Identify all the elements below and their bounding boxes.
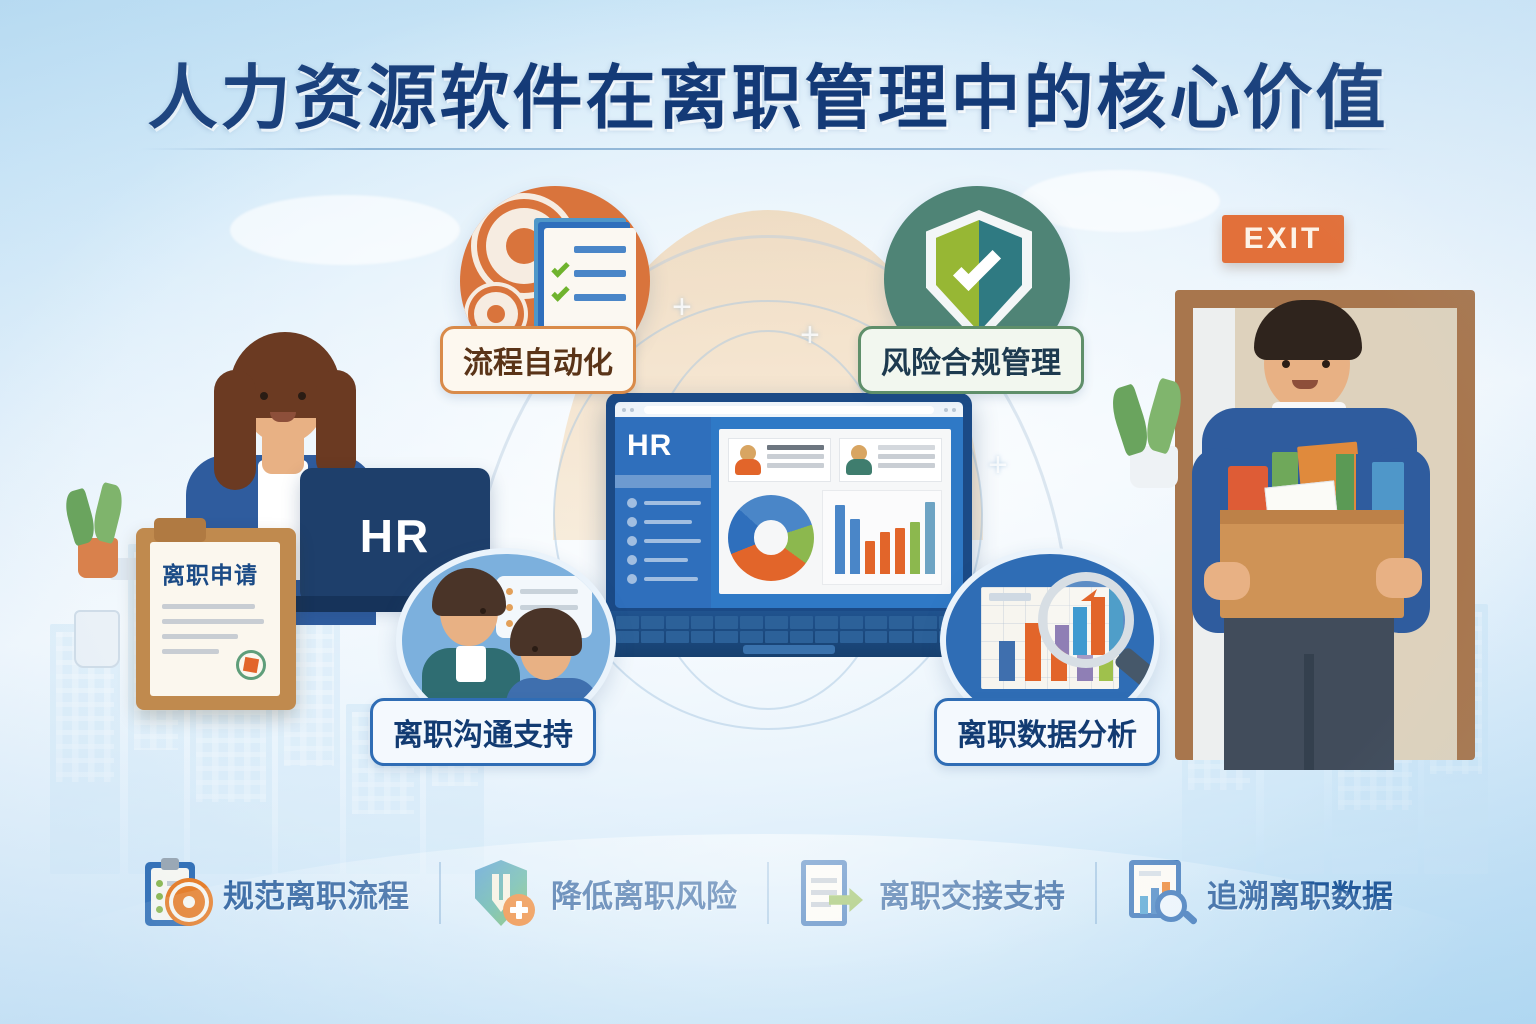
profile-card[interactable] (839, 438, 942, 482)
plant-decoration (1110, 370, 1196, 488)
chart-row (728, 490, 942, 585)
cup-decoration (74, 610, 120, 668)
sidebar-item[interactable] (627, 574, 701, 584)
avatar (735, 445, 761, 475)
browser-toolbar (615, 402, 963, 417)
feature-label-exit-data-analysis[interactable]: 离职数据分析 (934, 698, 1160, 766)
window-dot (944, 408, 948, 412)
check-icon (551, 259, 569, 277)
page-title: 人力资源软件在离职管理中的核心价值 (0, 42, 1536, 143)
sidebar-item[interactable] (627, 498, 701, 508)
plant-decoration (62, 478, 132, 578)
clipboard-doc-title: 离职申请 (162, 556, 268, 590)
clipboard-exit-application: 离职申请 (136, 528, 296, 710)
bullet-icon (627, 536, 637, 546)
profile-card-row (728, 438, 942, 482)
title-divider (140, 148, 1396, 150)
feature-label-process-automation[interactable]: 流程自动化 (440, 326, 636, 394)
infographic-poster: 人力资源软件在离职管理中的核心价值 + + + HR (0, 0, 1536, 1024)
bar-chart (822, 490, 942, 585)
sidebar-divider (615, 475, 711, 488)
poster-title-container: 人力资源软件在离职管理中的核心价值 (0, 42, 1536, 143)
feature-label-risk-compliance[interactable]: 风险合规管理 (858, 326, 1084, 394)
window-dot (622, 408, 626, 412)
address-bar[interactable] (644, 406, 934, 414)
departing-employee-man-with-box (1168, 298, 1468, 768)
laptop-lid: HR (606, 393, 972, 617)
hr-dashboard-laptop: HR (600, 393, 978, 663)
window-dot (630, 408, 634, 412)
bullet-icon (627, 498, 637, 508)
laptop-screen: HR (615, 402, 963, 608)
cloud-decoration (230, 195, 460, 265)
bullet-icon (627, 574, 637, 584)
profile-card[interactable] (728, 438, 831, 482)
hr-laptop-lid-label: HR (360, 509, 430, 563)
hr-brand-label: HR (627, 429, 701, 463)
plus-decoration: + (672, 288, 692, 327)
sidebar-item[interactable] (627, 555, 701, 565)
plus-decoration: + (988, 446, 1008, 485)
exit-sign: EXIT (1222, 215, 1344, 263)
plus-decoration: + (800, 316, 820, 355)
seal-stamp-icon (236, 650, 266, 680)
keyboard[interactable] (616, 616, 962, 643)
dashboard-content (719, 429, 951, 594)
feature-label-exit-communication[interactable]: 离职沟通支持 (370, 698, 596, 766)
belongings-box (1220, 510, 1404, 618)
exit-sign-label: EXIT (1244, 222, 1323, 256)
check-icon (551, 283, 569, 301)
bullet-icon (627, 517, 637, 527)
donut-chart (728, 495, 814, 581)
trackpad[interactable] (743, 645, 835, 654)
bullet-icon (627, 555, 637, 565)
sidebar-item[interactable] (627, 536, 701, 546)
avatar (846, 445, 872, 475)
sidebar-item[interactable] (627, 517, 701, 527)
laptop-base (600, 611, 978, 657)
dashboard-sidebar: HR (615, 417, 711, 608)
window-dot (952, 408, 956, 412)
checklist-document-icon (544, 228, 636, 340)
